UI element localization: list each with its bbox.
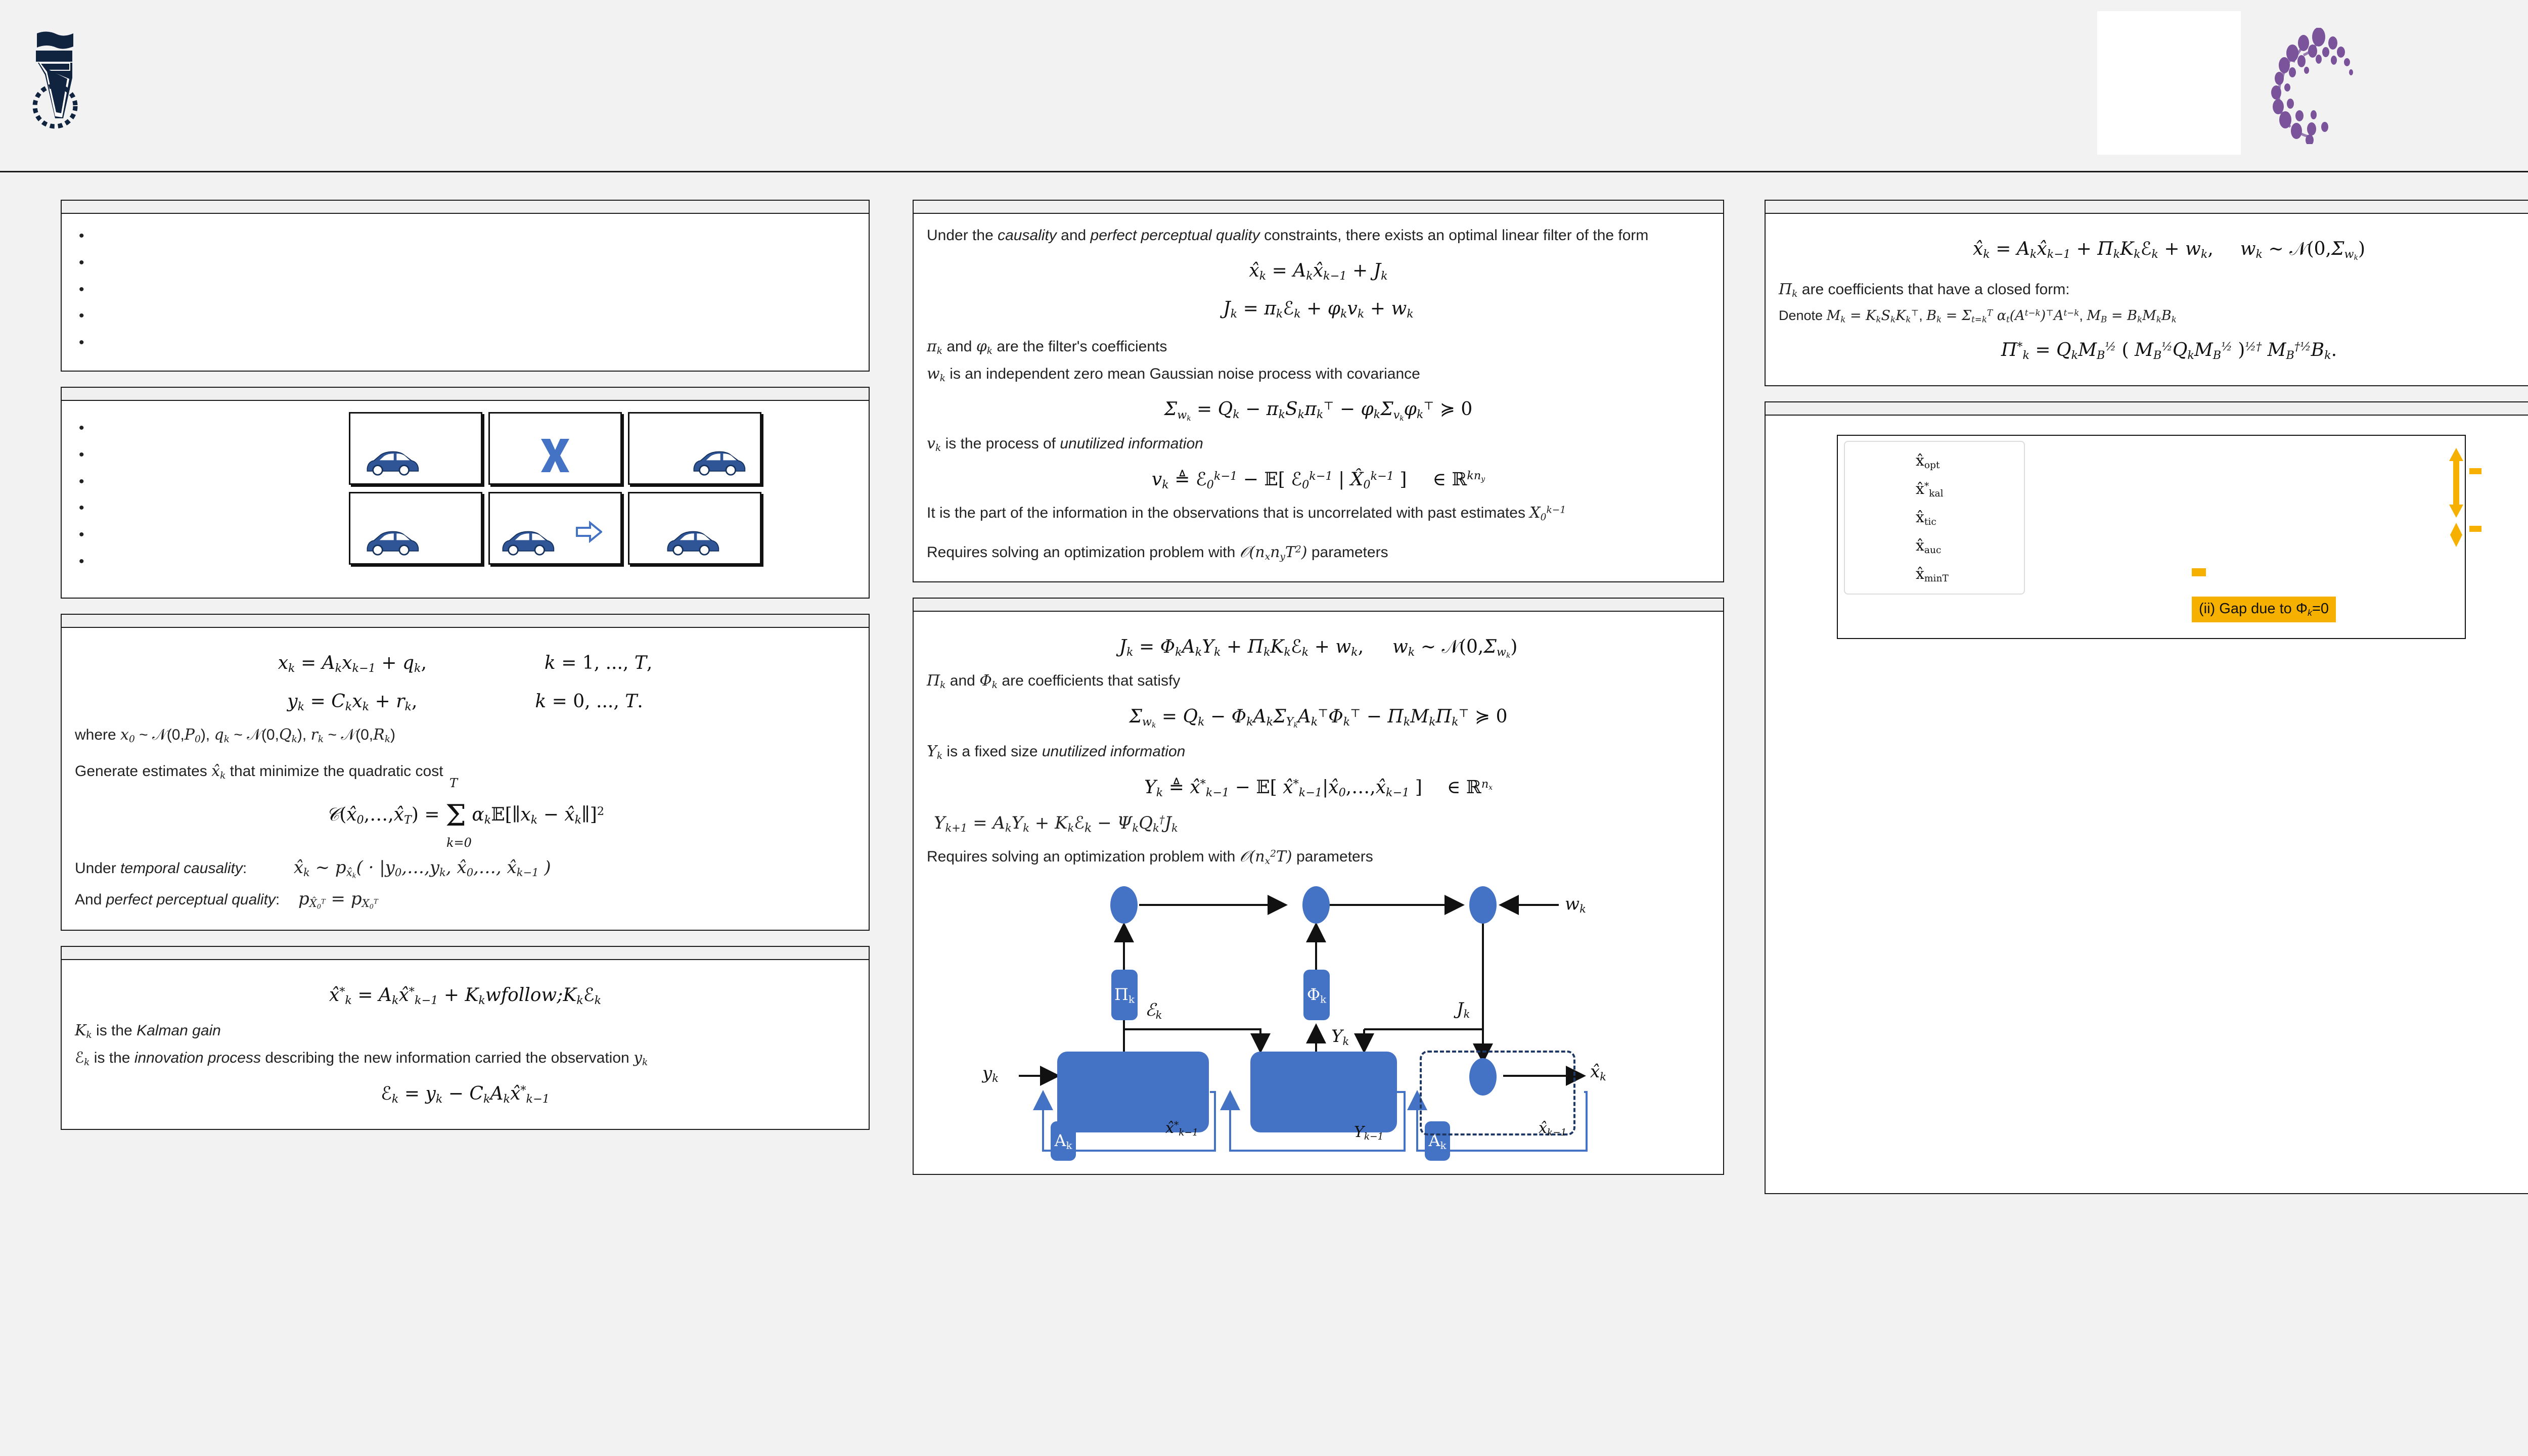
poster-root: xk = Akxk−1 + qk, k = 1, ..., T, yk = Ck… [0, 0, 2528, 1456]
poster-header [0, 0, 2528, 172]
problem-equation-state: xk = Akxk−1 + qk, k = 1, ..., T, [75, 649, 855, 677]
theorem-intro: Under the causality and perfect perceptu… [927, 225, 1710, 247]
panel-theorem: Under the causality and perfect perceptu… [913, 200, 1724, 582]
grid1-cell-auc-0 [1802, 844, 2041, 924]
grid2-cell-auc-2 [2283, 1097, 2522, 1177]
gain-pi-label: Πk [1114, 985, 1135, 1006]
recursive-equation-covariance: Σwk = Qk − ΦkAkΣΥkAk⊤Φk⊤ − ΠkMkΠk⊤ ≽ 0 [927, 703, 1710, 732]
motivation-bullet-0 [75, 417, 312, 439]
theorem-equation-2: Jk = πkℰk + φkvk + wk [927, 295, 1710, 323]
column-right: x̂k = Akx̂k−1 + ΠkKkℰk + wk, wk ~ 𝒩(0,Σw… [1765, 200, 2528, 1209]
grid1-row-obs [1802, 680, 2522, 760]
panel-recursive-body: Jk = ΦkAkΥk + ΠkKkℰk + wk, wk ~ 𝒩(0,Σwk)… [914, 612, 1723, 1174]
car-icon [690, 449, 747, 476]
gain-phi: Φk [1303, 970, 1330, 1020]
panel-outline-body [62, 214, 869, 371]
kalman-gain-line: Kk is the Kalman gain [75, 1020, 855, 1042]
grid2-cell-obs-0 [1802, 933, 2041, 1013]
x-mark-icon [538, 437, 572, 474]
panel-problem-body: xk = Akxk−1 + qk, k = 1, ..., T, yk = Ck… [62, 628, 869, 930]
grid2-cell-kal-2 [2283, 1015, 2522, 1095]
kalman-equation-main: x̂*k = Akx̂*k−1 + Kkwfollow;Kkℰk [75, 981, 855, 1010]
legend-item-3: x̂auc [1851, 532, 2018, 560]
grid1-cell-kal-1 [2043, 762, 2281, 842]
chart-legend: x̂opt x̂*kal x̂tic [1844, 441, 2025, 595]
diagram-label-J: Jk [1457, 999, 1470, 1020]
recursion-equation: Υk+1 = AkΥk + Kk [934, 813, 1074, 833]
summation-node-2 [1302, 886, 1330, 924]
gain-pi: Πk [1111, 970, 1138, 1020]
recursive-block-diagram: Πk Φk Ak Ak wk yk x̂k ℰk Jk [927, 874, 1695, 1162]
diagram-label-xhat: x̂k [1590, 1062, 1606, 1083]
grid2-row-label-1 [1779, 1015, 1799, 1095]
outline-bullet-3 [75, 305, 855, 327]
panel-experiments-body: x̂opt x̂*kal x̂tic [1766, 416, 2528, 1193]
kalman-innovation-line: ℰk is the innovation process describing … [75, 1048, 855, 1070]
legend-label-3: x̂auc [1916, 537, 1941, 556]
gap-tag-ii [2469, 468, 2481, 474]
column-left: xk = Akxk−1 + qk, k = 1, ..., T, yk = Ck… [61, 200, 870, 1145]
panel-motivation [61, 387, 870, 599]
panel-experiments-header [1766, 402, 2528, 416]
perceptual-label: And perfect perceptual quality: [75, 891, 280, 908]
grid1-row-label-0 [1779, 680, 1799, 760]
panel-problem-header [62, 615, 869, 628]
recursive-equation-upsilon: Υk ≜ x̂*k−1 − 𝔼[ x̂*k−1|x̂0,…,x̂k−1 ] ∈ … [927, 773, 1710, 802]
legend-label-0: x̂opt [1916, 452, 1940, 471]
grid1-row-kal [1802, 762, 2522, 842]
legend-item-4: x̂minT [1851, 560, 2018, 588]
theorem-equation-1: x̂k = Akx̂k−1 + Jk [927, 257, 1710, 285]
motivation-list [75, 412, 312, 577]
frame-row-label-observation [326, 412, 343, 485]
panel-motivation-body [62, 401, 869, 598]
gain-a-kalman-label: Ak [1054, 1131, 1072, 1152]
causality-label: Under temporal causality: [75, 860, 247, 877]
grid2-row-kal [1802, 1015, 2522, 1095]
motivation-bullet-4 [75, 524, 312, 546]
diagram-label-upsilon-prev: Υk−1 [1354, 1123, 1384, 1142]
kalman-equation-innovation: ℰk = yk − CkAkx̂*k−1 [75, 1080, 855, 1108]
outline-bullet-2 [75, 279, 855, 301]
frame-row-label-estimation [326, 492, 343, 565]
panel-kalman-header [62, 947, 869, 960]
chart-note-ii: (ii) Gap due to Φk=0 [2192, 597, 2336, 622]
panel-kalman-filter: x̂*k = Akx̂*k−1 + Kkwfollow;Kkℰk Kk is t… [61, 946, 870, 1130]
panel-pkf: x̂k = Akx̂k−1 + ΠkKkℰk + wk, wk ~ 𝒩(0,Σw… [1765, 200, 2528, 386]
grid1-cell-auc-2 [2283, 844, 2522, 924]
theorem-optimization-line: Requires solving an optimization problem… [927, 542, 1710, 564]
causality-equation: x̂k ~ px̂k( · |y0,…,yk, x̂0,…, x̂k−1 ) [294, 857, 551, 878]
grid2-cell-kal-0 [1802, 1015, 2041, 1095]
panel-outline-header [62, 201, 869, 214]
technion-logo [28, 30, 92, 131]
perceptual-equation: pX̂0T = pX0T [298, 889, 378, 909]
diagram-label-upsilon: Υk [1331, 1026, 1349, 1048]
grid2-cell-kal-1 [2043, 1015, 2281, 1095]
theorem-part-line: It is the part of the information in the… [927, 503, 1710, 525]
grid1-cell-auc-1 [2043, 844, 2281, 924]
problem-where-line: where x0 ~ 𝒩(0,P0), qk ~ 𝒩(0,Qk), rk ~ 𝒩… [75, 724, 855, 747]
recursive-optimization-line: Requires solving an optimization problem… [927, 846, 1710, 869]
legend-item-1: x̂*kal [1851, 475, 2018, 504]
grid1-row-label-2 [1779, 844, 1799, 924]
neurips-mark-icon [2270, 28, 2366, 144]
diagram-label-xhat-prev: x̂k−1 [1539, 1119, 1567, 1138]
qr-code-icon[interactable] [2097, 11, 2241, 155]
panel-pkf-header [1766, 201, 2528, 214]
grid1-cell-kal-2 [2283, 762, 2522, 842]
problem-perceptual-line: And perfect perceptual quality: pX̂0T = … [75, 887, 855, 913]
node-unutilized-information [1250, 1052, 1397, 1132]
panel-recursive-filters: Jk = ΦkAkΥk + ΠkKkℰk + wk, wk ~ 𝒩(0,Σwk)… [913, 598, 1724, 1175]
panel-recursive-header [914, 599, 1723, 612]
frame-est-t3 [628, 492, 761, 565]
problem-equation-observation: yk = Ckxk + rk, k = 0, ..., T. [75, 688, 855, 716]
column-middle: Under the causality and perfect perceptu… [913, 200, 1724, 1190]
recursive-fixedsize-line: Υk is a fixed size unutilized informatio… [927, 741, 1710, 763]
grid2-row-label-0 [1779, 933, 1799, 1013]
theorem-coefficients-line: πk and φk are the filter's coefficients [927, 336, 1710, 358]
title-block [632, 5, 1997, 14]
summation-node-1 [1110, 886, 1138, 924]
motivation-frame-grid [326, 412, 855, 577]
frame-est-t2 [488, 492, 622, 565]
legend-label-2: x̂tic [1916, 509, 1936, 527]
car-icon [499, 529, 556, 556]
panel-kalman-body: x̂*k = Akx̂*k−1 + Kkwfollow;Kkℰk Kk is t… [62, 960, 869, 1129]
neurips-logo [2270, 28, 2528, 144]
panel-outline [61, 200, 870, 372]
theorem-unutilized-line: vk is the process of unutilized informat… [927, 433, 1710, 456]
grid1-row-auc [1802, 844, 2522, 924]
panel-experiments: x̂opt x̂*kal x̂tic [1765, 401, 2528, 1194]
motivation-bullet-1 [75, 444, 312, 466]
summation-node-3 [1469, 886, 1497, 924]
theorem-equation-covariance: Σwk = Qk − πkSkπk⊤ − φkΣvkφk⊤ ≽ 0 [927, 395, 1710, 424]
rmse-chart: x̂opt x̂*kal x̂tic [1779, 432, 2512, 674]
panel-theorem-body: Under the causality and perfect perceptu… [914, 214, 1723, 581]
motivation-bullet-3 [75, 497, 312, 519]
theorem-equation-v: vk ≜ ℰ0k−1 − 𝔼[ ℰ0k−1 | X̂0k−1 ] ∈ ℝkny [927, 466, 1710, 494]
problem-causality-line: Under temporal causality: x̂k ~ px̂k( · … [75, 855, 855, 881]
legend-item-0: x̂opt [1851, 447, 2018, 475]
gap-tag-i [2469, 526, 2481, 532]
panel-theorem-header [914, 201, 1723, 214]
pkf-closedform-line: Πk are coefficients that have a closed f… [1779, 279, 2528, 301]
problem-equation-cost: 𝒞(x̂0,…,x̂T) = T Σ k=0 αk𝔼[∥xk − x̂k∥]2 [75, 793, 855, 839]
frame-obs-t3 [628, 412, 761, 485]
grid2-row-auc [1802, 1097, 2522, 1177]
technion-shield-icon [28, 30, 82, 131]
right-arrow-icon [576, 521, 602, 543]
grid1-row-label-1 [1779, 762, 1799, 842]
panel-problem-formulation: xk = Akxk−1 + qk, k = 1, ..., T, yk = Ck… [61, 614, 870, 931]
legend-label-4: x̂minT [1916, 565, 1949, 584]
grid2-cell-auc-1 [2043, 1097, 2281, 1177]
frame-est-t1 [349, 492, 482, 565]
grid1-cell-obs-0 [1802, 680, 2041, 760]
car-icon [664, 529, 720, 556]
diagram-label-xstar-prev: x̂*k−1 [1165, 1119, 1198, 1138]
grid1-cell-obs-1 [2043, 680, 2281, 760]
grid2-row-label-2 [1779, 1097, 1799, 1177]
grid2-row-obs [1802, 933, 2522, 1013]
legend-label-1: x̂*kal [1916, 480, 1944, 499]
outline-bullet-4 [75, 332, 855, 354]
motivation-bullet-2 [75, 471, 312, 493]
outline-bullet-1 [75, 252, 855, 274]
grid1-cell-kal-0 [1802, 762, 2041, 842]
panel-motivation-header [62, 388, 869, 401]
problem-goal-line: Generate estimates x̂k that minimize the… [75, 761, 855, 783]
legend-item-2: x̂tic [1851, 504, 2018, 532]
theorem-noise-line: wk is an independent zero mean Gaussian … [927, 363, 1710, 386]
gain-phi-label: Φk [1307, 985, 1326, 1006]
diagram-label-y: yk [982, 1063, 999, 1084]
gap-arrows-icon [2446, 446, 2469, 613]
panel-pkf-body: x̂k = Akx̂k−1 + ΠkKkℰk + wk, wk ~ 𝒩(0,Σw… [1766, 214, 2528, 385]
video-grid-2 [1779, 933, 2528, 1181]
chart-note-i [2192, 568, 2206, 576]
motivation-bullet-5 [75, 551, 312, 573]
pkf-equation-optimal: Π*k = QkMB½ ( MB½QkMB½ )½† MB†½Bk. [1779, 336, 2528, 365]
grid2-cell-auc-0 [1802, 1097, 2041, 1177]
grid2-cell-obs-2 [2283, 933, 2522, 1013]
video-grid-1 [1779, 680, 2528, 928]
car-icon [364, 449, 420, 476]
diagram-label-w: wk [1565, 894, 1586, 915]
frame-obs-t2-missing [488, 412, 622, 485]
car-icon [364, 529, 420, 556]
chart-plot-area: x̂opt x̂*kal x̂tic [1837, 435, 2466, 639]
recursive-equation-form: Jk = ΦkAkΥk + ΠkKkℰk + wk, wk ~ 𝒩(0,Σwk) [927, 633, 1710, 662]
frame-obs-t1 [349, 412, 482, 485]
pkf-denote-line: Denote Mk = KkSkKk⊤, Bk = Σt=kT αt(At−k)… [1779, 306, 2528, 326]
recursive-recursion-line: Υk+1 = AkΥk + Kkℰk − ΨkQk†Jk [927, 811, 1710, 837]
diagram-label-I: ℰk [1145, 1000, 1162, 1021]
grid1-cell-obs-2 [2283, 680, 2522, 760]
pkf-equation-main: x̂k = Akx̂k−1 + ΠkKkℰk + wk, wk ~ 𝒩(0,Σw… [1779, 235, 2528, 264]
outline-bullet-0 [75, 225, 855, 247]
grid2-cell-obs-1 [2043, 933, 2281, 1013]
recursive-coefficients-line: Πk and Φk are coefficients that satisfy [927, 670, 1710, 693]
